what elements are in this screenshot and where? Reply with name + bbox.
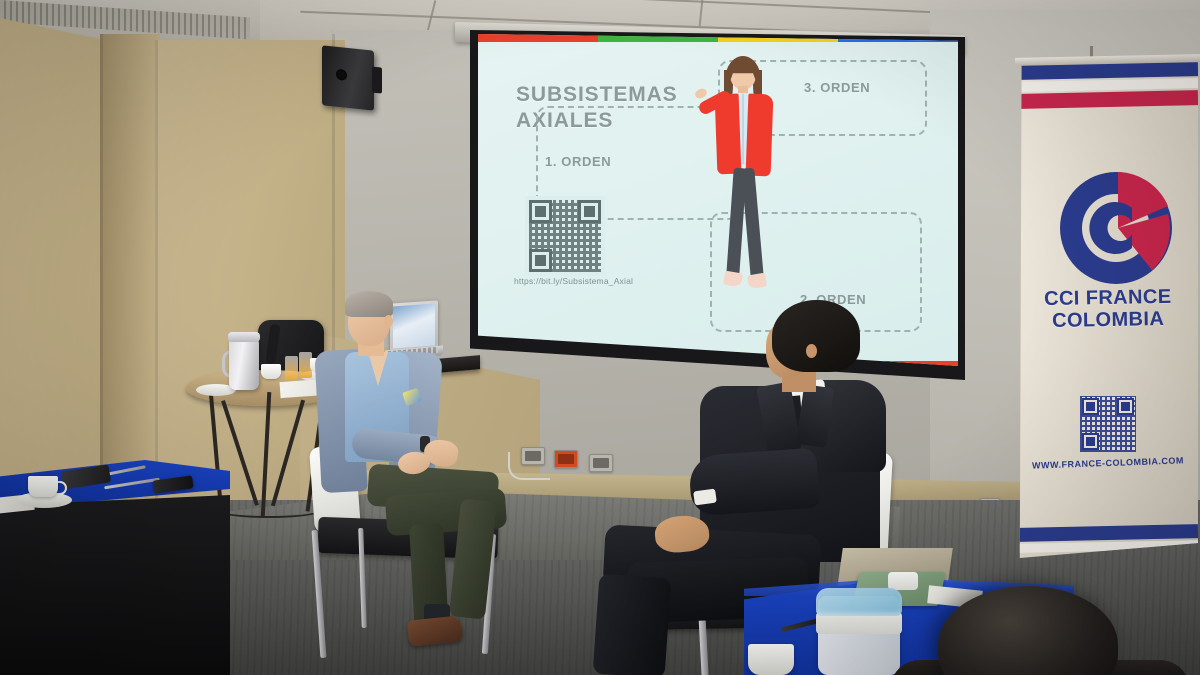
slide-title-line1: SUBSISTEMAS: [516, 82, 678, 108]
woman-shoe-left: [723, 271, 743, 288]
juice-glass: [285, 356, 298, 380]
slide-url: https://bit.ly/Subsistema_Axial: [514, 276, 633, 286]
woman-leg-right: [741, 168, 764, 279]
man2-hair: [772, 300, 860, 372]
qr-eye-tr: [578, 200, 601, 223]
speaker-bracket: [372, 67, 382, 94]
wall-wood-panel-left: [0, 18, 105, 538]
man1-ear: [384, 315, 393, 327]
table-skirt-left: [0, 495, 230, 675]
man2-arm: [688, 448, 820, 517]
banner-org-name: CCI FRANCE COLOMBIA: [1018, 286, 1199, 332]
woman-illustration: [696, 56, 792, 308]
emergency-power-outlet: [554, 450, 578, 468]
wall-speaker-icon: [322, 45, 374, 110]
banner-website-url: WWW.FRANCE-COLOMBIA.COM: [1018, 455, 1198, 471]
laptop-display: [393, 304, 435, 349]
coffee-thermos: [229, 338, 259, 390]
qr-eye-tr: [1117, 398, 1134, 415]
conference-room-photo: SUBSISTEMAS AXIALES 3. ORDEN 1. ORDEN 2.…: [0, 0, 1200, 675]
rollup-banner: CCI FRANCE COLOMBIA WWW.FRANCE-COLOMBIA.…: [1018, 58, 1198, 558]
man1-hair: [345, 291, 393, 317]
presentation-slide: SUBSISTEMAS AXIALES 3. ORDEN 1. ORDEN 2.…: [478, 34, 958, 371]
banner-org-line1: CCI FRANCE: [1018, 286, 1198, 311]
banner-qr-code-icon: [1080, 396, 1136, 452]
laptop-screen[interactable]: [390, 300, 438, 351]
coffee-cup: [748, 644, 794, 675]
power-outlet-1: [521, 447, 545, 465]
woman-shoe-right: [747, 273, 767, 290]
banner-stripe-blue-bottom: [1018, 524, 1198, 542]
qr-code-icon: [525, 196, 605, 276]
man2-shin: [593, 574, 672, 675]
man2-ear: [806, 344, 817, 358]
power-outlet-2: [589, 454, 613, 472]
woman-hand: [694, 87, 709, 100]
water-jug-lid[interactable]: [816, 588, 902, 616]
orden-3-label: 3. ORDEN: [804, 80, 870, 95]
qr-eye-tl: [529, 200, 552, 223]
banner-org-line2: COLOMBIA: [1018, 308, 1198, 333]
banner-stripe-red: [1018, 90, 1198, 109]
thermos-lid: [228, 332, 260, 342]
orden-1-label: 1. ORDEN: [545, 154, 611, 169]
woman-blazer-right: [746, 94, 774, 177]
qr-eye-bl: [529, 249, 552, 272]
wall-seam: [155, 40, 158, 520]
woman-shirt-placket: [742, 94, 744, 164]
speaker-cone: [336, 69, 347, 81]
coffee-cup: [261, 364, 281, 379]
cci-france-colombia-logo: [1056, 168, 1176, 288]
qr-eye-tl: [1082, 398, 1099, 415]
coffee-cup: [28, 476, 58, 497]
qr-eye-bl: [1082, 433, 1099, 450]
wall-seam: [100, 34, 103, 534]
